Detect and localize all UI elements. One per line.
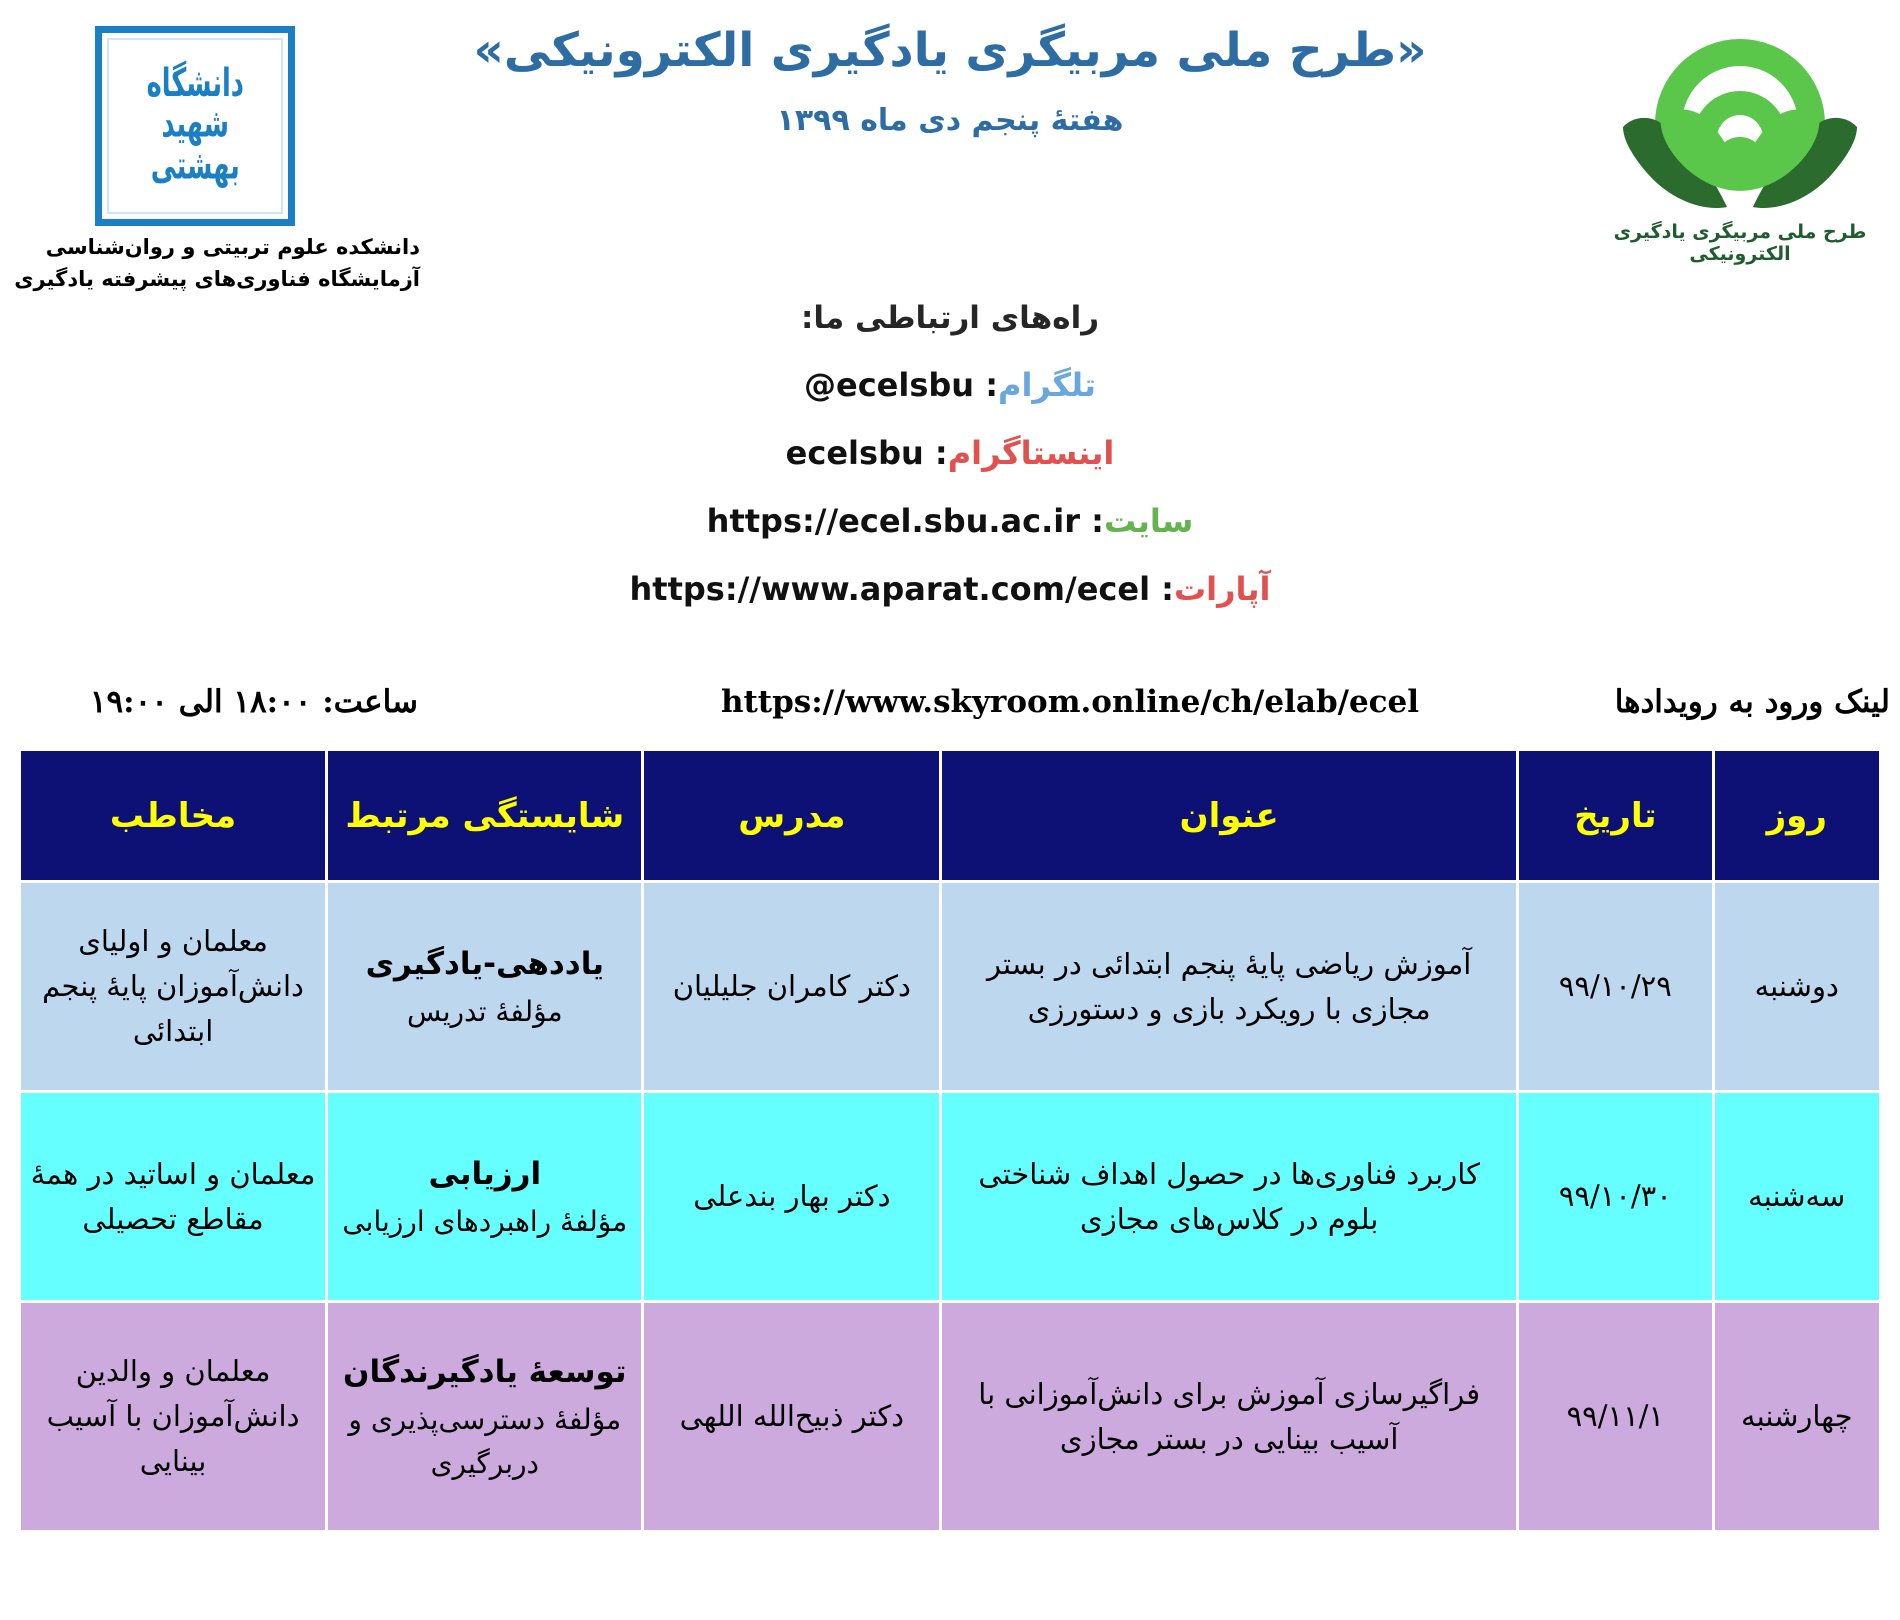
cell-day: سه‌شنبه [1713, 1092, 1880, 1302]
column-header-teacher: مدرس [643, 750, 941, 882]
cell-audience: معلمان و والدین دانش‌آموزان با آسیب بینا… [20, 1302, 327, 1532]
sbu-faculty-caption: دانشکده علوم تربیتی و روان‌شناسی آزمایشگ… [120, 232, 420, 295]
cell-teacher: دکتر بهار بندعلی [643, 1092, 941, 1302]
table-row: سه‌شنبه ۹۹/۱۰/۳۰ کاربرد فناوری‌ها در حصو… [20, 1092, 1881, 1302]
cell-date: ۹۹/۱۰/۳۰ [1518, 1092, 1713, 1302]
cell-day: چهارشنبه [1713, 1302, 1880, 1532]
lab-name: آزمایشگاه فناوری‌های پیشرفته یادگیری [120, 264, 420, 296]
ecel-logo-caption: طرح ملی مربیگری یادگیری الکترونیکی [1590, 221, 1890, 265]
event-time: ساعت: ۱۸:۰۰ الی ۱۹:۰۰ [0, 684, 430, 720]
cell-audience: معلمان و اساتید در همهٔ مقاطع تحصیلی [20, 1092, 327, 1302]
ecel-project-logo [1615, 12, 1865, 217]
column-header-title: عنوان [941, 750, 1518, 882]
instagram-separator: : [935, 434, 948, 472]
telegram-label: تلگرام [998, 366, 1096, 404]
schedule-table-wrap: روز تاریخ عنوان مدرس شایستگی مرتبط مخاطب… [18, 748, 1882, 1533]
competency-sub: مؤلفهٔ تدریس [336, 990, 633, 1033]
table-row: چهارشنبه ۹۹/۱۱/۱ فراگیرسازی آموزش برای د… [20, 1302, 1881, 1532]
competency-main: ارزیابی [336, 1150, 633, 1198]
table-row: دوشنبه ۹۹/۱۰/۲۹ آموزش ریاضی پایهٔ پنجم ا… [20, 882, 1881, 1092]
telegram-handle[interactable]: @ecelsbu [804, 366, 974, 404]
sbu-university-logo: دانشگاهشهیدبهشتی [95, 26, 295, 226]
column-header-day: روز [1713, 750, 1880, 882]
poster-header: دانشگاهشهیدبهشتی دانشکده علوم تربیتی و ر… [0, 0, 1900, 300]
date-value: ۹۹/۱۱/۱ [1567, 1394, 1664, 1439]
contact-row-aparat: آپارات: https://www.aparat.com/ecel [0, 570, 1900, 608]
ecel-logo-block: طرح ملی مربیگری یادگیری الکترونیکی [1590, 12, 1890, 265]
cell-teacher: دکتر کامران جلیلیان [643, 882, 941, 1092]
cell-teacher: دکتر ذبیح‌الله اللهی [643, 1302, 941, 1532]
aparat-separator: : [1161, 570, 1174, 608]
cell-competency: یاددهی-یادگیری مؤلفهٔ تدریس [327, 882, 643, 1092]
competency-sub: مؤلفهٔ راهبردهای ارزیابی [336, 1200, 633, 1243]
schedule-table-body: دوشنبه ۹۹/۱۰/۲۹ آموزش ریاضی پایهٔ پنجم ا… [20, 882, 1881, 1532]
cell-date: ۹۹/۱۱/۱ [1518, 1302, 1713, 1532]
cell-title: فراگیرسازی آموزش برای دانش‌آموزانی با آس… [941, 1302, 1518, 1532]
instagram-handle[interactable]: ecelsbu [786, 434, 924, 472]
telegram-separator: : [985, 366, 998, 404]
schedule-table-head: روز تاریخ عنوان مدرس شایستگی مرتبط مخاطب [20, 750, 1881, 882]
contact-block: راه‌های ارتباطی ما: تلگرام: @ecelsbu این… [0, 300, 1900, 638]
cell-title: کاربرد فناوری‌ها در حصول اهداف شناختی بل… [941, 1092, 1518, 1302]
sbu-logo-block: دانشگاهشهیدبهشتی دانشکده علوم تربیتی و ر… [0, 8, 420, 295]
faculty-name: دانشکده علوم تربیتی و روان‌شناسی [120, 232, 420, 264]
date-value: ۹۹/۱۰/۲۹ [1559, 964, 1672, 1009]
cell-competency: ارزیابی مؤلفهٔ راهبردهای ارزیابی [327, 1092, 643, 1302]
website-label: سایت [1104, 502, 1193, 540]
competency-main: توسعهٔ یادگیرندگان [336, 1348, 633, 1396]
website-separator: : [1091, 502, 1104, 540]
event-link-bar: لینک ورود به رویدادها https://www.skyroo… [0, 672, 1900, 732]
competency-sub: مؤلفهٔ دسترسی‌پذیری و دربرگیری [336, 1398, 633, 1485]
contact-heading: راه‌های ارتباطی ما: [0, 300, 1900, 336]
column-header-competency: شایستگی مرتبط [327, 750, 643, 882]
aparat-url[interactable]: https://www.aparat.com/ecel [629, 570, 1150, 608]
hands-wifi-icon [1615, 12, 1865, 217]
sbu-logo-frame: دانشگاهشهیدبهشتی [107, 38, 283, 214]
cell-day: دوشنبه [1713, 882, 1880, 1092]
column-header-audience: مخاطب [20, 750, 327, 882]
website-url[interactable]: https://ecel.sbu.ac.ir [707, 502, 1080, 540]
instagram-label: اینستاگرام [948, 434, 1115, 472]
cell-competency: توسعهٔ یادگیرندگان مؤلفهٔ دسترسی‌پذیری و… [327, 1302, 643, 1532]
competency-main: یاددهی-یادگیری [336, 940, 633, 988]
contact-row-website: سایت: https://ecel.sbu.ac.ir [0, 502, 1900, 540]
sbu-calligraphy-text: دانشگاهشهیدبهشتی [146, 64, 243, 187]
cell-date: ۹۹/۱۰/۲۹ [1518, 882, 1713, 1092]
cell-title: آموزش ریاضی پایهٔ پنجم ابتدائی در بستر م… [941, 882, 1518, 1092]
contact-row-instagram: اینستاگرام: ecelsbu [0, 434, 1900, 472]
contact-row-telegram: تلگرام: @ecelsbu [0, 366, 1900, 404]
column-header-date: تاریخ [1518, 750, 1713, 882]
aparat-label: آپارات [1174, 570, 1271, 608]
schedule-table: روز تاریخ عنوان مدرس شایستگی مرتبط مخاطب… [18, 748, 1882, 1533]
cell-audience: معلمان و اولیای دانش‌آموزان پایهٔ پنجم ا… [20, 882, 327, 1092]
table-header-row: روز تاریخ عنوان مدرس شایستگی مرتبط مخاطب [20, 750, 1881, 882]
skyroom-url[interactable]: https://www.skyroom.online/ch/elab/ecel [430, 684, 1570, 720]
event-link-label: لینک ورود به رویدادها [1570, 684, 1900, 720]
date-value: ۹۹/۱۰/۳۰ [1559, 1174, 1672, 1219]
